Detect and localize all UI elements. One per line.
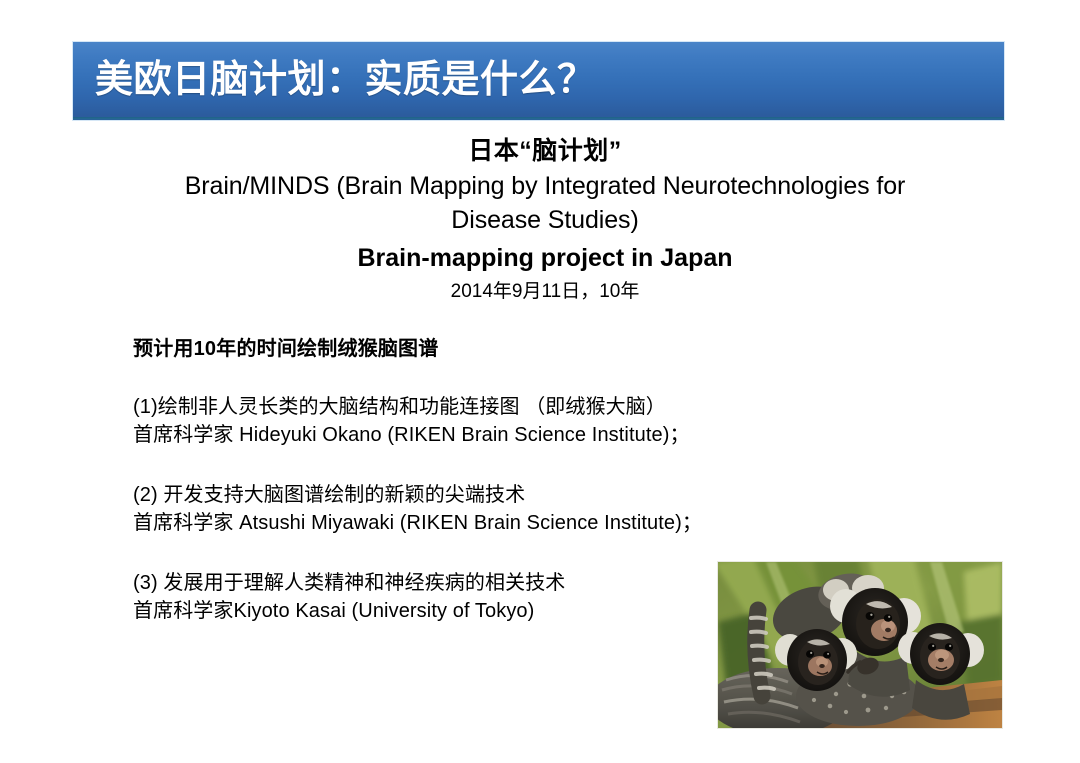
lead-scientist-text: 首席科学家Kiyoto Kasai (University of Tokyo) <box>133 597 733 625</box>
heading-program-fullname-line2: Disease Studies) <box>120 205 970 236</box>
marmoset-photo-graphic <box>718 562 1002 728</box>
slide-title-banner: 美欧日脑计划：实质是什么？ <box>73 42 1004 120</box>
marmoset-photo <box>718 562 1002 728</box>
heading-date-duration: 2014年9月11日，10年 <box>120 280 970 304</box>
list-item: (3) 发展用于理解人类精神和神经疾病的相关技术 首席科学家Kiyoto Kas… <box>133 569 733 626</box>
heading-japan-program: 日本“脑计划” <box>120 136 970 167</box>
body-lead-statement: 预计用10年的时间绘制绒猴脑图谱 <box>133 336 733 362</box>
slide-canvas: 美欧日脑计划：实质是什么？ 日本“脑计划” Brain/MINDS (Brain… <box>0 0 1080 763</box>
heading-block: 日本“脑计划” Brain/MINDS (Brain Mapping by In… <box>120 136 970 304</box>
objective-text: (3) 发展用于理解人类精神和神经疾病的相关技术 <box>133 569 733 597</box>
list-item: (1)绘制非人灵长类的大脑结构和功能连接图 （即绒猴大脑） 首席科学家 Hide… <box>133 393 733 450</box>
heading-project-title: Brain-mapping project in Japan <box>120 243 970 274</box>
lead-scientist-text: 首席科学家 Atsushi Miyawaki (RIKEN Brain Scie… <box>133 509 733 537</box>
objective-text: (2) 开发支持大脑图谱绘制的新颖的尖端技术 <box>133 481 733 509</box>
lead-scientist-text: 首席科学家 Hideyuki Okano (RIKEN Brain Scienc… <box>133 421 733 449</box>
heading-program-fullname-line1: Brain/MINDS (Brain Mapping by Integrated… <box>120 171 970 202</box>
list-item: (2) 开发支持大脑图谱绘制的新颖的尖端技术 首席科学家 Atsushi Miy… <box>133 481 733 538</box>
objective-text: (1)绘制非人灵长类的大脑结构和功能连接图 （即绒猴大脑） <box>133 393 733 421</box>
body-block: 预计用10年的时间绘制绒猴脑图谱 (1)绘制非人灵长类的大脑结构和功能连接图 （… <box>133 336 733 625</box>
page-title: 美欧日脑计划：实质是什么？ <box>95 61 596 101</box>
